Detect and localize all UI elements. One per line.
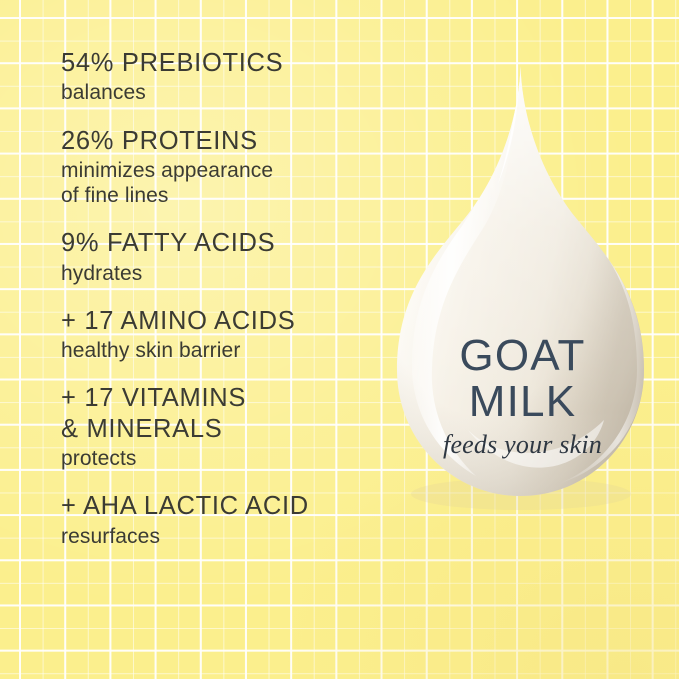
ingredient-item-prebiotics: 54% PREBIOTICS balances — [61, 48, 391, 106]
milk-droplet-illustration: GOAT MILK feeds your skin — [390, 58, 655, 548]
ingredient-benefit: hydrates — [61, 261, 391, 286]
ingredient-item-fatty-acids: 9% FATTY ACIDS hydrates — [61, 228, 391, 286]
ingredient-item-amino-acids: + 17 AMINO ACIDS healthy skin barrier — [61, 306, 391, 364]
ingredient-headline: + 17 VITAMINS & MINERALS — [61, 383, 391, 444]
droplet-icon — [390, 58, 655, 548]
ingredient-benefit: minimizes appearance of fine lines — [61, 158, 391, 208]
ingredient-headline: 54% PREBIOTICS — [61, 48, 391, 78]
ingredient-headline: 26% PROTEINS — [61, 126, 391, 156]
ingredient-item-aha-lactic-acid: + AHA LACTIC ACID resurfaces — [61, 491, 391, 549]
ingredient-benefit: balances — [61, 80, 391, 105]
ingredient-headline: + AHA LACTIC ACID — [61, 491, 391, 521]
ingredient-headline: + 17 AMINO ACIDS — [61, 306, 391, 336]
ingredient-benefit: protects — [61, 446, 391, 471]
ingredient-benefit: resurfaces — [61, 524, 391, 549]
ingredient-list: 54% PREBIOTICS balances 26% PROTEINS min… — [61, 48, 391, 569]
ingredient-item-proteins: 26% PROTEINS minimizes appearance of fin… — [61, 126, 391, 209]
ingredient-headline: 9% FATTY ACIDS — [61, 228, 391, 258]
ingredient-benefit: healthy skin barrier — [61, 338, 391, 363]
ingredient-item-vitamins-minerals: + 17 VITAMINS & MINERALS protects — [61, 383, 391, 471]
ingredient-infographic-poster: 54% PREBIOTICS balances 26% PROTEINS min… — [0, 0, 679, 679]
